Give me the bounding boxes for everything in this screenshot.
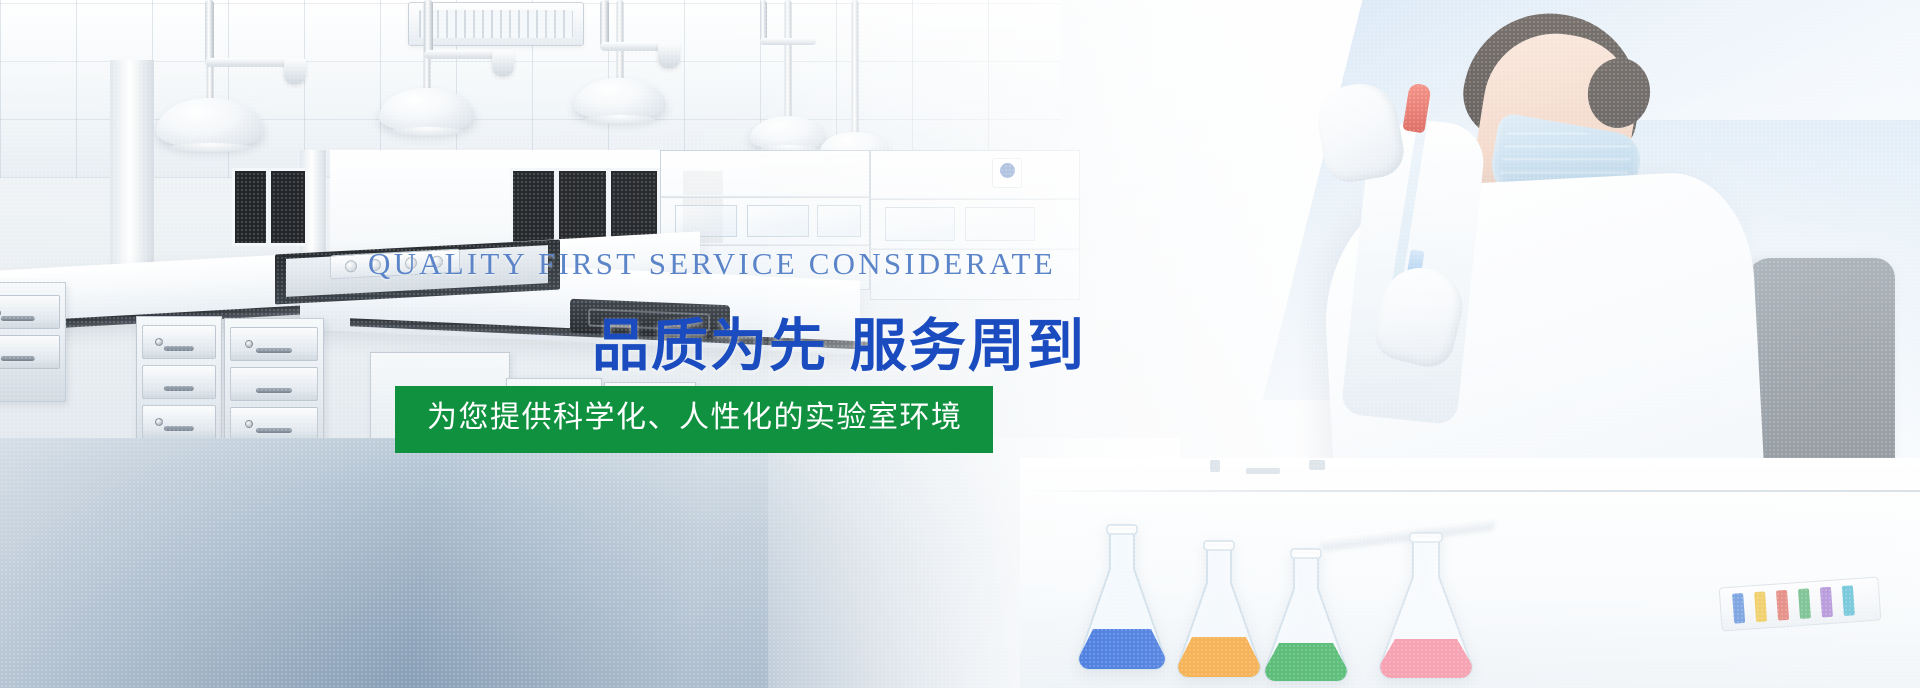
- banner-subtitle-text: 为您提供科学化、人性化的实验室环境: [427, 400, 963, 435]
- bench-debris: [1210, 460, 1220, 472]
- latex-glove: [1312, 78, 1407, 186]
- banner-eyebrow-text: QUALITY FIRST SERVICE CONSIDERATE: [368, 246, 1056, 282]
- flask-green: [1252, 547, 1360, 688]
- banner-subtitle-bar: 为您提供科学化、人性化的实验室环境: [395, 386, 993, 453]
- bench-debris: [1309, 460, 1325, 470]
- flask-pink: [1366, 531, 1486, 686]
- promo-banner: QUALITY FIRST SERVICE CONSIDERATE 品质为先 服…: [0, 0, 1920, 688]
- banner-copy: QUALITY FIRST SERVICE CONSIDERATE 品质为先 服…: [0, 0, 1100, 688]
- bench-front-edge: [1020, 490, 1920, 492]
- bench-debris: [1246, 468, 1280, 474]
- banner-headline: 品质为先 服务周到: [592, 300, 1086, 382]
